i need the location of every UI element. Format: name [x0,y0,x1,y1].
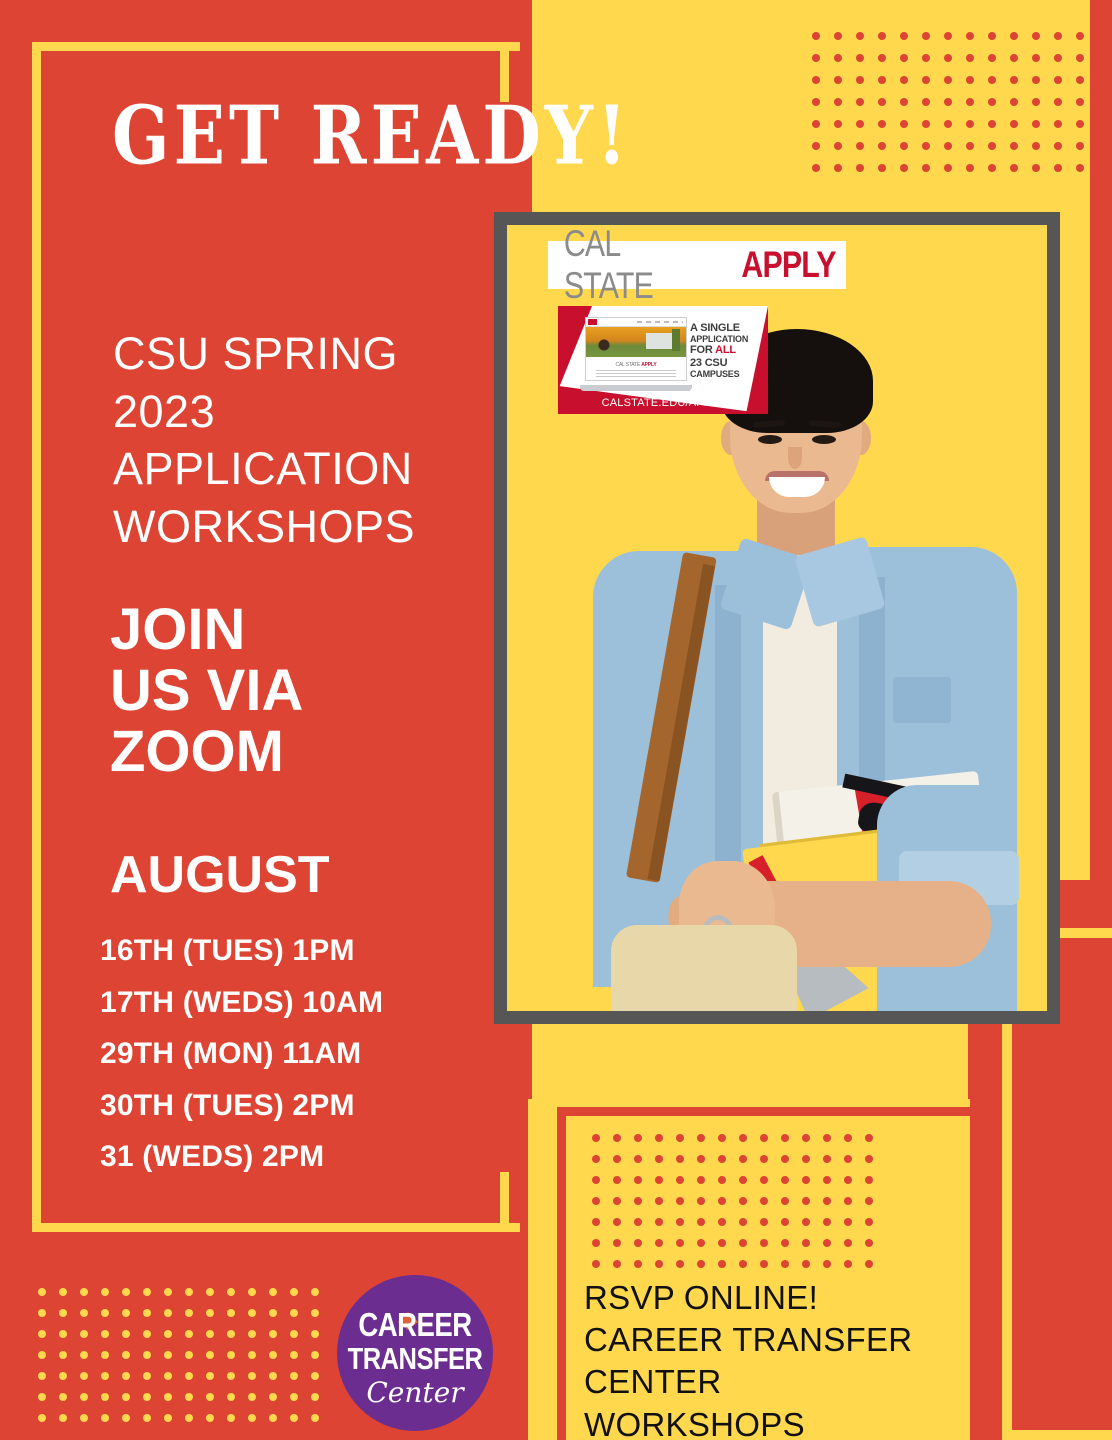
bottom-middle-dot [865,1260,873,1268]
bottom-middle-dot [613,1218,621,1226]
top-right-dot [900,164,908,172]
bottom-middle-dot [844,1176,852,1184]
title-line-1: 2023 [113,383,513,441]
bottom-left-dot [80,1309,88,1317]
dot-grid-bottom-middle [592,1134,886,1281]
top-right-dot [1010,98,1018,106]
top-right-dot [856,54,864,62]
bottom-middle-dot [655,1239,663,1247]
bottom-middle-dot [718,1134,726,1142]
promo-line-2: APPLICATION [690,334,760,344]
bottom-middle-dot [676,1155,684,1163]
top-right-dot [834,54,842,62]
bottom-middle-dot [865,1155,873,1163]
bottom-left-dot [248,1330,256,1338]
rsvp-line-0: RSVP ONLINE! [584,1277,984,1319]
bottom-left-dot [59,1393,67,1401]
bottom-left-dot [290,1372,298,1380]
bottom-left-dot [59,1351,67,1359]
bottom-left-dot [101,1372,109,1380]
top-right-dot [856,164,864,172]
top-right-dot [922,142,930,150]
bottom-middle-dot [781,1260,789,1268]
bottom-middle-dot [697,1218,705,1226]
bottom-left-dot [206,1393,214,1401]
bottom-left-dot [206,1288,214,1296]
top-right-dot [944,164,952,172]
top-right-dot [1032,142,1040,150]
bottom-left-dot [80,1372,88,1380]
top-right-dot [988,164,996,172]
bottom-middle-dot [655,1155,663,1163]
bottom-middle-dot [634,1176,642,1184]
bottom-left-dot [290,1309,298,1317]
bottom-middle-dot [802,1218,810,1226]
top-right-dot [1054,54,1062,62]
bottom-middle-dot [739,1218,747,1226]
bottom-middle-dot [760,1155,768,1163]
top-right-dot [1010,164,1018,172]
top-right-dot [812,142,820,150]
top-right-dot [966,120,974,128]
top-right-dot [1098,32,1106,40]
bottom-middle-dot [697,1134,705,1142]
screen-caption-cal-state: CAL STATE [616,362,641,368]
bottom-left-dot [122,1393,130,1401]
bottom-middle-dot [760,1260,768,1268]
top-right-dot [1010,76,1018,84]
top-right-dot [900,98,908,106]
bottom-middle-dot [718,1197,726,1205]
bottom-left-dot [80,1288,88,1296]
bottom-middle-dot [655,1176,663,1184]
bottom-left-dot [311,1414,319,1422]
bottom-middle-dot [865,1197,873,1205]
bottom-left-dot [269,1288,277,1296]
bottom-middle-dot [592,1218,600,1226]
bottom-left-dot [311,1393,319,1401]
bottom-middle-dot [865,1176,873,1184]
top-right-dot [1098,120,1106,128]
bottom-middle-dot [739,1155,747,1163]
promo-line-3-prefix: FOR [690,344,715,356]
top-right-dot [856,142,864,150]
bottom-left-dot [38,1393,46,1401]
bottom-left-dot [185,1330,193,1338]
top-right-dot [812,98,820,106]
bottom-middle-dot [844,1197,852,1205]
bottom-left-dot [269,1393,277,1401]
top-right-dot [1010,120,1018,128]
session-date-list: 16TH (TUES) 1PM17TH (WEDS) 10AM29TH (MON… [100,925,520,1183]
top-right-dot [1076,98,1084,106]
top-right-dot [834,98,842,106]
bottom-middle-dot [865,1218,873,1226]
bottom-left-dot [311,1309,319,1317]
campus-tree [672,329,680,351]
rsvp-block: RSVP ONLINE!CAREER TRANSFERCENTERWORKSHO… [584,1277,984,1440]
top-right-dot [812,76,820,84]
top-right-dot [834,76,842,84]
top-right-dot [1076,76,1084,84]
date-item-1: 17TH (WEDS) 10AM [100,977,520,1029]
bottom-left-dot [143,1288,151,1296]
bottom-left-dot [227,1309,235,1317]
top-right-dot [922,98,930,106]
bottom-left-dot [290,1330,298,1338]
bottom-middle-dot [802,1239,810,1247]
bottom-middle-dot [592,1260,600,1268]
join-line-1: US VIA [110,661,510,722]
top-right-dot [966,32,974,40]
bottom-middle-dot [844,1260,852,1268]
dot-grid-bottom-left [38,1288,332,1435]
bottom-middle-dot [718,1239,726,1247]
bottom-left-dot [227,1288,235,1296]
bottom-left-dot [101,1414,109,1422]
dot-grid-top-right [812,32,1112,186]
bottom-left-dot [101,1393,109,1401]
workshop-title: CSU SPRING2023APPLICATIONWORKSHOPS [113,325,513,555]
campus-autumn-photo [586,327,686,357]
bottom-middle-dot [739,1239,747,1247]
bottom-middle-dot [844,1239,852,1247]
top-right-dot [966,54,974,62]
top-right-dot [1054,164,1062,172]
bottom-left-dot [38,1351,46,1359]
bottom-left-dot [206,1330,214,1338]
bottom-left-dot [59,1414,67,1422]
bottom-left-dot [206,1309,214,1317]
top-right-dot [812,54,820,62]
top-right-dot [1010,142,1018,150]
title-line-0: CSU SPRING [113,325,513,383]
promo-line-3: FOR ALL [690,344,760,356]
bottom-left-dot [290,1414,298,1422]
bottom-left-dot [227,1372,235,1380]
bottom-left-dot [59,1288,67,1296]
bottom-left-dot [269,1372,277,1380]
bottom-left-dot [185,1372,193,1380]
top-right-dot [878,164,886,172]
top-right-dot [1098,98,1106,106]
bottom-middle-dot [613,1197,621,1205]
top-right-dot [1032,120,1040,128]
bottom-left-dot [38,1309,46,1317]
title-line-2: APPLICATION [113,440,513,498]
top-right-dot [988,54,996,62]
top-right-dot [878,54,886,62]
bottom-left-dot [311,1372,319,1380]
bottom-left-dot [101,1330,109,1338]
bottom-middle-dot [655,1134,663,1142]
bottom-left-dot [164,1414,172,1422]
bottom-left-dot [122,1288,130,1296]
bottom-middle-dot [802,1260,810,1268]
bottom-left-dot [164,1288,172,1296]
bottom-middle-dot [676,1197,684,1205]
bottom-middle-dot [676,1218,684,1226]
screen-body-text-lines [596,370,676,377]
bottom-middle-dot [655,1218,663,1226]
bottom-middle-dot [676,1260,684,1268]
bottom-left-dot [248,1351,256,1359]
bottom-left-dot [38,1288,46,1296]
bottom-middle-dot [865,1239,873,1247]
top-right-dot [1098,164,1106,172]
bottom-middle-dot [592,1134,600,1142]
top-right-dot [1010,32,1018,40]
bottom-middle-dot [865,1134,873,1142]
bottom-left-dot [164,1351,172,1359]
top-right-dot [812,32,820,40]
top-right-dot [834,142,842,150]
top-right-dot [900,76,908,84]
bottom-middle-dot [802,1197,810,1205]
bottom-left-dot [185,1288,193,1296]
top-right-dot [856,120,864,128]
top-right-dot [856,76,864,84]
promo-line-5: CAMPUSES [690,369,760,379]
date-item-2: 29TH (MON) 11AM [100,1028,520,1080]
title-line-3: WORKSHOPS [113,498,513,556]
bottom-middle-dot [739,1134,747,1142]
bottom-left-dot [248,1288,256,1296]
top-right-dot [834,32,842,40]
bottom-left-dot [59,1309,67,1317]
bottom-middle-dot [739,1197,747,1205]
top-right-dot [1032,32,1040,40]
bottom-left-dot [185,1351,193,1359]
bottom-left-dot [101,1288,109,1296]
bottom-middle-dot [802,1134,810,1142]
top-right-dot [856,98,864,106]
top-right-dot [944,76,952,84]
top-right-dot [1032,54,1040,62]
bottom-middle-dot [697,1176,705,1184]
bottom-middle-dot [760,1176,768,1184]
screen-caption-apply: APPLY [641,362,656,368]
top-right-dot [878,142,886,150]
top-right-dot [878,120,886,128]
laptop-screen: CAL STATE APPLY [585,317,687,381]
bottom-middle-dot [781,1197,789,1205]
top-right-dot [1076,164,1084,172]
bottom-middle-dot [781,1134,789,1142]
bottom-middle-dot [718,1176,726,1184]
bottom-left-dot [227,1351,235,1359]
bottom-middle-dot [655,1260,663,1268]
top-right-dot [922,120,930,128]
top-right-dot [944,98,952,106]
bottom-left-dot [143,1372,151,1380]
top-right-dot [966,76,974,84]
top-right-dot [966,98,974,106]
top-right-dot [900,142,908,150]
bottom-middle-dot [697,1260,705,1268]
bottom-middle-dot [634,1239,642,1247]
bottom-left-dot [38,1330,46,1338]
date-item-3: 30TH (TUES) 2PM [100,1080,520,1132]
screen-caption: CAL STATE APPLY [586,357,686,368]
laptop-mockup: CAL STATE APPLY [580,317,692,391]
bottom-middle-dot [781,1155,789,1163]
top-right-dot [1054,142,1062,150]
bottom-middle-dot [823,1260,831,1268]
top-right-dot [944,32,952,40]
top-right-dot [988,98,996,106]
bottom-middle-dot [802,1155,810,1163]
bottom-middle-dot [613,1134,621,1142]
bottom-left-dot [59,1330,67,1338]
poster-canvas: CSUN CSU CHANNEL ISLANDS CAL STATE APPLY [0,0,1112,1440]
bottom-left-dot [164,1372,172,1380]
promo-copy: A SINGLE APPLICATION FOR ALL 23 CSU CAMP… [690,322,760,379]
rsvp-line-2: CENTER [584,1361,984,1403]
top-right-dot [834,164,842,172]
bottom-middle-dot [634,1197,642,1205]
bottom-middle-dot [781,1218,789,1226]
bottom-middle-dot [592,1197,600,1205]
bottom-middle-dot [823,1239,831,1247]
bottom-middle-dot [655,1197,663,1205]
top-right-dot [1054,32,1062,40]
bottom-left-dot [122,1351,130,1359]
bottom-left-dot [80,1351,88,1359]
top-right-dot [878,98,886,106]
bottom-left-dot [269,1351,277,1359]
bottom-left-dot [248,1309,256,1317]
promo-line-4: 23 CSU [690,357,760,369]
bottom-left-dot [227,1393,235,1401]
bottom-left-dot [143,1393,151,1401]
bottom-middle-dot [823,1197,831,1205]
career-transfer-center-logo[interactable]: CAREER TRANSFER Center [336,1274,494,1432]
bottom-middle-dot [760,1239,768,1247]
bottom-left-dot [59,1372,67,1380]
bottom-left-dot [290,1393,298,1401]
bottom-left-dot [248,1414,256,1422]
bottom-left-dot [38,1414,46,1422]
top-right-dot [834,120,842,128]
bottom-middle-dot [634,1134,642,1142]
month-heading: AUGUST [110,845,330,905]
top-right-dot [944,120,952,128]
bottom-left-dot [164,1330,172,1338]
top-right-dot [988,32,996,40]
logo-line-2: TRANSFER [348,1342,483,1376]
bottom-middle-dot [718,1260,726,1268]
bottom-left-dot [248,1372,256,1380]
bottom-left-dot [122,1414,130,1422]
bottom-middle-dot [592,1176,600,1184]
logo-line-3: Center [366,1376,465,1409]
date-item-0: 16TH (TUES) 1PM [100,925,520,977]
top-right-dot [944,142,952,150]
top-right-dot [966,164,974,172]
bottom-middle-dot [802,1176,810,1184]
bottom-left-dot [290,1288,298,1296]
bottom-middle-dot [676,1176,684,1184]
bottom-left-dot [311,1330,319,1338]
bottom-left-dot [80,1393,88,1401]
bottom-middle-dot [613,1239,621,1247]
promo-line-3-all: ALL [715,344,736,356]
top-right-dot [1032,76,1040,84]
bottom-left-dot [101,1309,109,1317]
cal-state-apply-promo-card: CAL STATE APPLY A SINGLE APPLICATION FOR… [558,306,768,414]
top-right-dot [944,54,952,62]
bottom-middle-dot [613,1260,621,1268]
top-right-dot [922,32,930,40]
bottom-left-dot [143,1414,151,1422]
top-right-dot [988,76,996,84]
bottom-middle-dot [844,1155,852,1163]
laptop-base [580,385,692,391]
promo-line-1: A SINGLE [690,322,760,334]
bottom-left-dot [185,1309,193,1317]
top-right-dot [1054,120,1062,128]
bottom-middle-dot [823,1176,831,1184]
bottom-left-dot [143,1330,151,1338]
bottom-middle-dot [634,1218,642,1226]
bottom-left-dot [143,1351,151,1359]
bottom-middle-dot [844,1218,852,1226]
bottom-left-dot [269,1330,277,1338]
bottom-left-dot [248,1393,256,1401]
bottom-middle-dot [592,1155,600,1163]
rsvp-line-3: WORKSHOPS [584,1404,984,1440]
cal-state-apply-wordmark: CAL STATE APPLY [548,241,846,289]
bottom-middle-dot [781,1176,789,1184]
bottom-middle-dot [760,1218,768,1226]
logo-line-1: CAREER [358,1308,472,1344]
bottom-left-dot [122,1330,130,1338]
bottom-middle-dot [781,1239,789,1247]
top-right-dot [900,120,908,128]
top-right-dot [878,76,886,84]
top-right-dot [922,76,930,84]
top-right-dot [1098,54,1106,62]
join-line-0: JOIN [110,600,510,661]
bottom-left-dot [269,1414,277,1422]
bottom-left-dot [206,1351,214,1359]
bottom-middle-dot [739,1176,747,1184]
bottom-middle-dot [823,1155,831,1163]
bottom-middle-dot [697,1197,705,1205]
date-item-4: 31 (WEDS) 2PM [100,1131,520,1183]
bottom-middle-dot [718,1155,726,1163]
bottom-left-dot [206,1414,214,1422]
rsvp-line-1: CAREER TRANSFER [584,1319,984,1361]
top-right-dot [1098,142,1106,150]
bottom-left-dot [80,1414,88,1422]
bottom-left-dot [164,1393,172,1401]
bottom-left-dot [101,1351,109,1359]
top-right-dot [878,32,886,40]
top-right-dot [900,32,908,40]
website-navbar [586,318,686,327]
bottom-left-dot [311,1351,319,1359]
wordmark-apply: APPLY [741,244,835,286]
join-via-zoom-callout: JOINUS VIAZOOM [110,600,510,783]
bottom-middle-dot [697,1155,705,1163]
top-right-dot [988,120,996,128]
calstate-url: CALSTATE.EDU/APPLY [558,397,768,409]
page-title: GET READY! [112,88,631,183]
bottom-middle-dot [718,1218,726,1226]
join-line-2: ZOOM [110,722,510,783]
